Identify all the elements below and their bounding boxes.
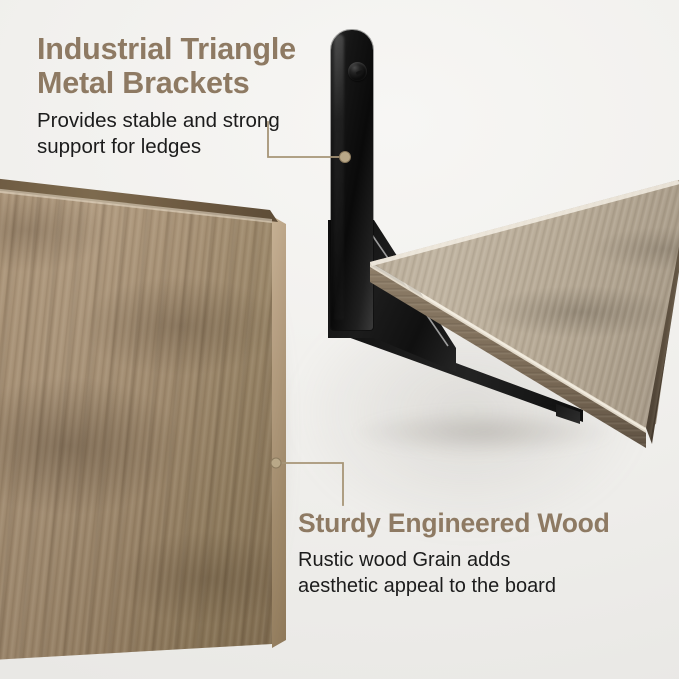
callout-title-wood: Sturdy Engineered Wood (298, 509, 678, 539)
callout-subtitle-wood: Rustic wood Grain adds aesthetic appeal … (298, 548, 658, 599)
left-board-face (0, 160, 284, 660)
shelf-wood-grain (360, 180, 679, 430)
left-engineered-wood-board (0, 160, 292, 679)
product-feature-image: Industrial Triangle Metal Brackets Provi… (0, 0, 679, 679)
shelf-top-surface (360, 180, 679, 430)
callout-subtitle-brackets: Provides stable and strong support for l… (37, 108, 347, 160)
callout-title-brackets: Industrial Triangle Metal Brackets (37, 32, 357, 100)
right-floating-shelf (360, 180, 679, 450)
